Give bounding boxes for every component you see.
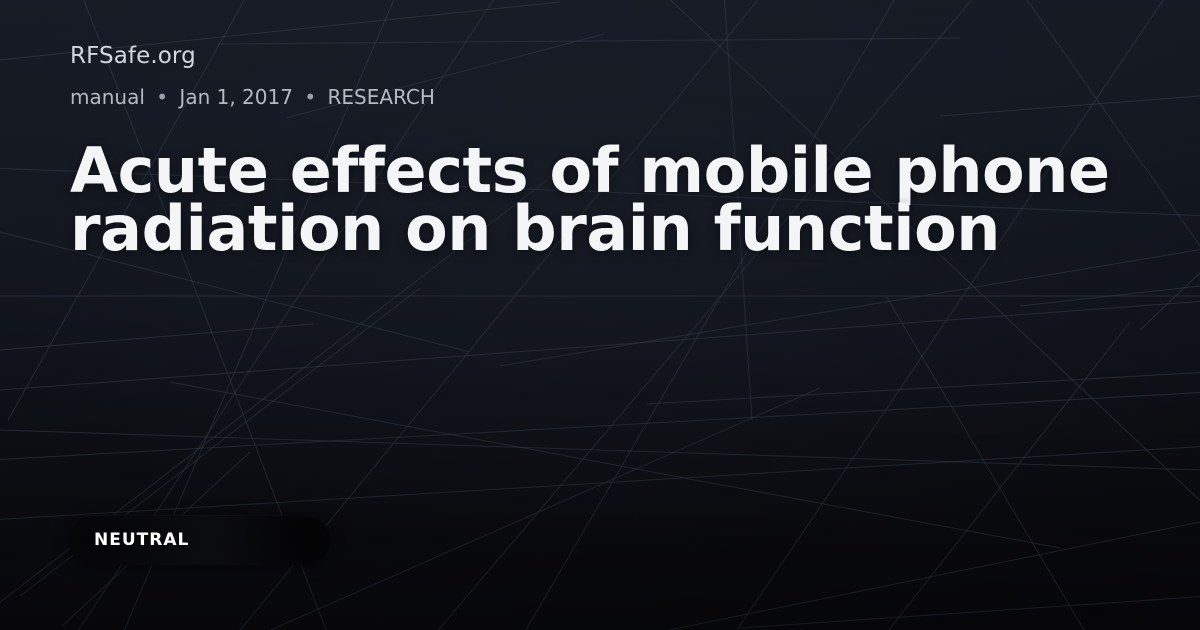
- page-title-line-2: radiation on brain function: [70, 200, 1130, 258]
- meta-date: Jan 1, 2017: [179, 85, 293, 109]
- meta-category: RESEARCH: [327, 85, 434, 109]
- status-badge-label: NEUTRAL: [94, 530, 189, 550]
- meta-source: manual: [70, 85, 145, 109]
- meta-separator-1: •: [151, 85, 173, 109]
- page-title: Acute effects of mobile phone radiation …: [70, 142, 1130, 258]
- meta-line: manual • Jan 1, 2017 • RESEARCH: [70, 84, 435, 110]
- brand-name: RFSafe.org: [70, 42, 196, 70]
- og-share-card: RFSafe.org manual • Jan 1, 2017 • RESEAR…: [0, 0, 1200, 630]
- meta-separator-2: •: [299, 85, 321, 109]
- status-badge: NEUTRAL: [68, 515, 330, 565]
